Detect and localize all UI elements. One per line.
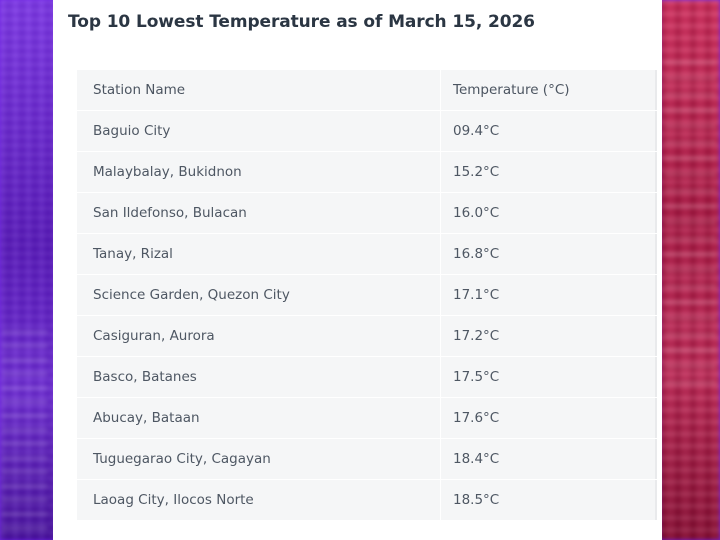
table-row: Tanay, Rizal 16.8°C bbox=[77, 234, 657, 274]
cell-station-name: Tuguegarao City, Cagayan bbox=[77, 439, 440, 479]
cell-temperature: 16.0°C bbox=[440, 193, 657, 233]
cell-temperature: 18.4°C bbox=[440, 439, 657, 479]
table-row: San Ildefonso, Bulacan 16.0°C bbox=[77, 193, 657, 233]
backdrop-right-crimson bbox=[660, 0, 720, 540]
cell-temperature: 17.6°C bbox=[440, 398, 657, 438]
cell-station-name: Basco, Batanes bbox=[77, 357, 440, 397]
cell-station-name: Abucay, Bataan bbox=[77, 398, 440, 438]
cell-station-name: Baguio City bbox=[77, 111, 440, 151]
cell-temperature: 18.5°C bbox=[440, 480, 657, 520]
content-card: Top 10 Lowest Temperature as of March 15… bbox=[53, 0, 662, 540]
table-row: Malaybalay, Bukidnon 15.2°C bbox=[77, 152, 657, 192]
cell-temperature: 17.1°C bbox=[440, 275, 657, 315]
cell-station-name: Casiguran, Aurora bbox=[77, 316, 440, 356]
table-header-row: Station Name Temperature (°C) bbox=[77, 70, 657, 110]
cell-station-name: San Ildefonso, Bulacan bbox=[77, 193, 440, 233]
table-row: Baguio City 09.4°C bbox=[77, 111, 657, 151]
page-title: Top 10 Lowest Temperature as of March 15… bbox=[68, 12, 535, 32]
temperature-table: Station Name Temperature (°C) Baguio Cit… bbox=[77, 70, 657, 521]
screenshot-stage: Top 10 Lowest Temperature as of March 15… bbox=[0, 0, 720, 540]
cell-station-name: Tanay, Rizal bbox=[77, 234, 440, 274]
table-row: Casiguran, Aurora 17.2°C bbox=[77, 316, 657, 356]
table-row: Abucay, Bataan 17.6°C bbox=[77, 398, 657, 438]
table-row: Tuguegarao City, Cagayan 18.4°C bbox=[77, 439, 657, 479]
backdrop-left-purple bbox=[0, 0, 58, 540]
cell-station-name: Malaybalay, Bukidnon bbox=[77, 152, 440, 192]
cell-station-name: Laoag City, Ilocos Norte bbox=[77, 480, 440, 520]
column-header-station-name: Station Name bbox=[77, 70, 440, 110]
cell-temperature: 15.2°C bbox=[440, 152, 657, 192]
table-row: Laoag City, Ilocos Norte 18.5°C bbox=[77, 480, 657, 520]
cell-station-name: Science Garden, Quezon City bbox=[77, 275, 440, 315]
column-header-temperature: Temperature (°C) bbox=[440, 70, 657, 110]
cell-temperature: 16.8°C bbox=[440, 234, 657, 274]
cell-temperature: 17.2°C bbox=[440, 316, 657, 356]
table-row: Science Garden, Quezon City 17.1°C bbox=[77, 275, 657, 315]
cell-temperature: 17.5°C bbox=[440, 357, 657, 397]
table-row: Basco, Batanes 17.5°C bbox=[77, 357, 657, 397]
cell-temperature: 09.4°C bbox=[440, 111, 657, 151]
